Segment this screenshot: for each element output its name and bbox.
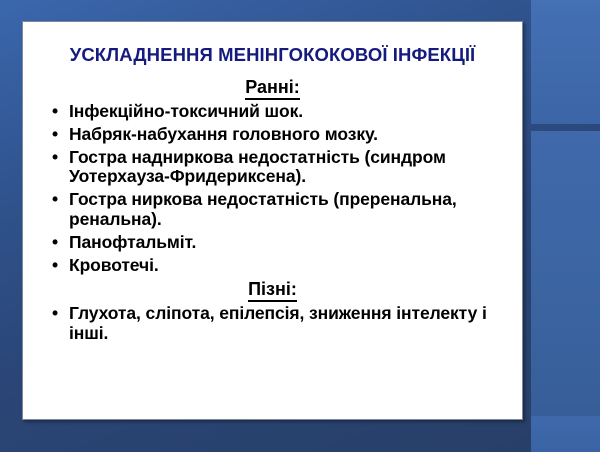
list-item-text: Інфекційно-токсичний шок. xyxy=(69,101,303,121)
list-item: • Гостра надниркова недостатність (синдр… xyxy=(31,148,514,188)
section-heading-early: Ранні: xyxy=(31,65,514,98)
bullet-icon: • xyxy=(52,256,58,276)
list-item: • Глухота, сліпота, епілепсія, зниження … xyxy=(31,304,514,344)
decorative-accent-right-band xyxy=(531,131,600,452)
list-item: • Набряк-набухання головного мозку. xyxy=(31,125,514,145)
section-heading-late-text: Пізні: xyxy=(248,279,297,302)
bullet-icon: • xyxy=(52,304,58,324)
bullet-icon: • xyxy=(52,190,58,210)
list-item: • Інфекційно-токсичний шок. xyxy=(31,102,514,122)
list-item: • Гостра ниркова недостатність (преренал… xyxy=(31,190,514,230)
slide-content-inner: УСКЛАДНЕННЯ МЕНІНГОКОКОВОЇ ІНФЕКЦІЇ Ранн… xyxy=(23,22,522,344)
list-item-text: Панофтальміт. xyxy=(69,232,196,252)
decorative-accent-bottom-right xyxy=(531,416,600,452)
bullet-icon: • xyxy=(52,233,58,253)
slide-title: УСКЛАДНЕННЯ МЕНІНГОКОКОВОЇ ІНФЕКЦІЇ xyxy=(31,22,514,65)
slide-content-card: УСКЛАДНЕННЯ МЕНІНГОКОКОВОЇ ІНФЕКЦІЇ Ранн… xyxy=(22,21,523,420)
bullet-icon: • xyxy=(52,102,58,122)
list-item-text: Гостра ниркова недостатність (преренальн… xyxy=(69,189,457,229)
bullet-list-early: • Інфекційно-токсичний шок. • Набряк-наб… xyxy=(31,98,514,275)
list-item-text: Глухота, сліпота, епілепсія, зниження ін… xyxy=(69,303,487,343)
bullet-icon: • xyxy=(52,148,58,168)
bullet-list-late: • Глухота, сліпота, епілепсія, зниження … xyxy=(31,300,514,344)
bullet-icon: • xyxy=(52,125,58,145)
list-item: • Панофтальміт. xyxy=(31,233,514,253)
list-item: • Кровотечі. xyxy=(31,256,514,276)
decorative-accent-top-right xyxy=(531,0,600,124)
section-heading-late: Пізні: xyxy=(31,275,514,300)
list-item-text: Кровотечі. xyxy=(69,255,159,275)
section-heading-early-text: Ранні: xyxy=(245,77,300,100)
list-item-text: Набряк-набухання головного мозку. xyxy=(69,124,378,144)
presentation-slide: УСКЛАДНЕННЯ МЕНІНГОКОКОВОЇ ІНФЕКЦІЇ Ранн… xyxy=(0,0,600,452)
list-item-text: Гостра надниркова недостатність (синдром… xyxy=(69,147,446,187)
